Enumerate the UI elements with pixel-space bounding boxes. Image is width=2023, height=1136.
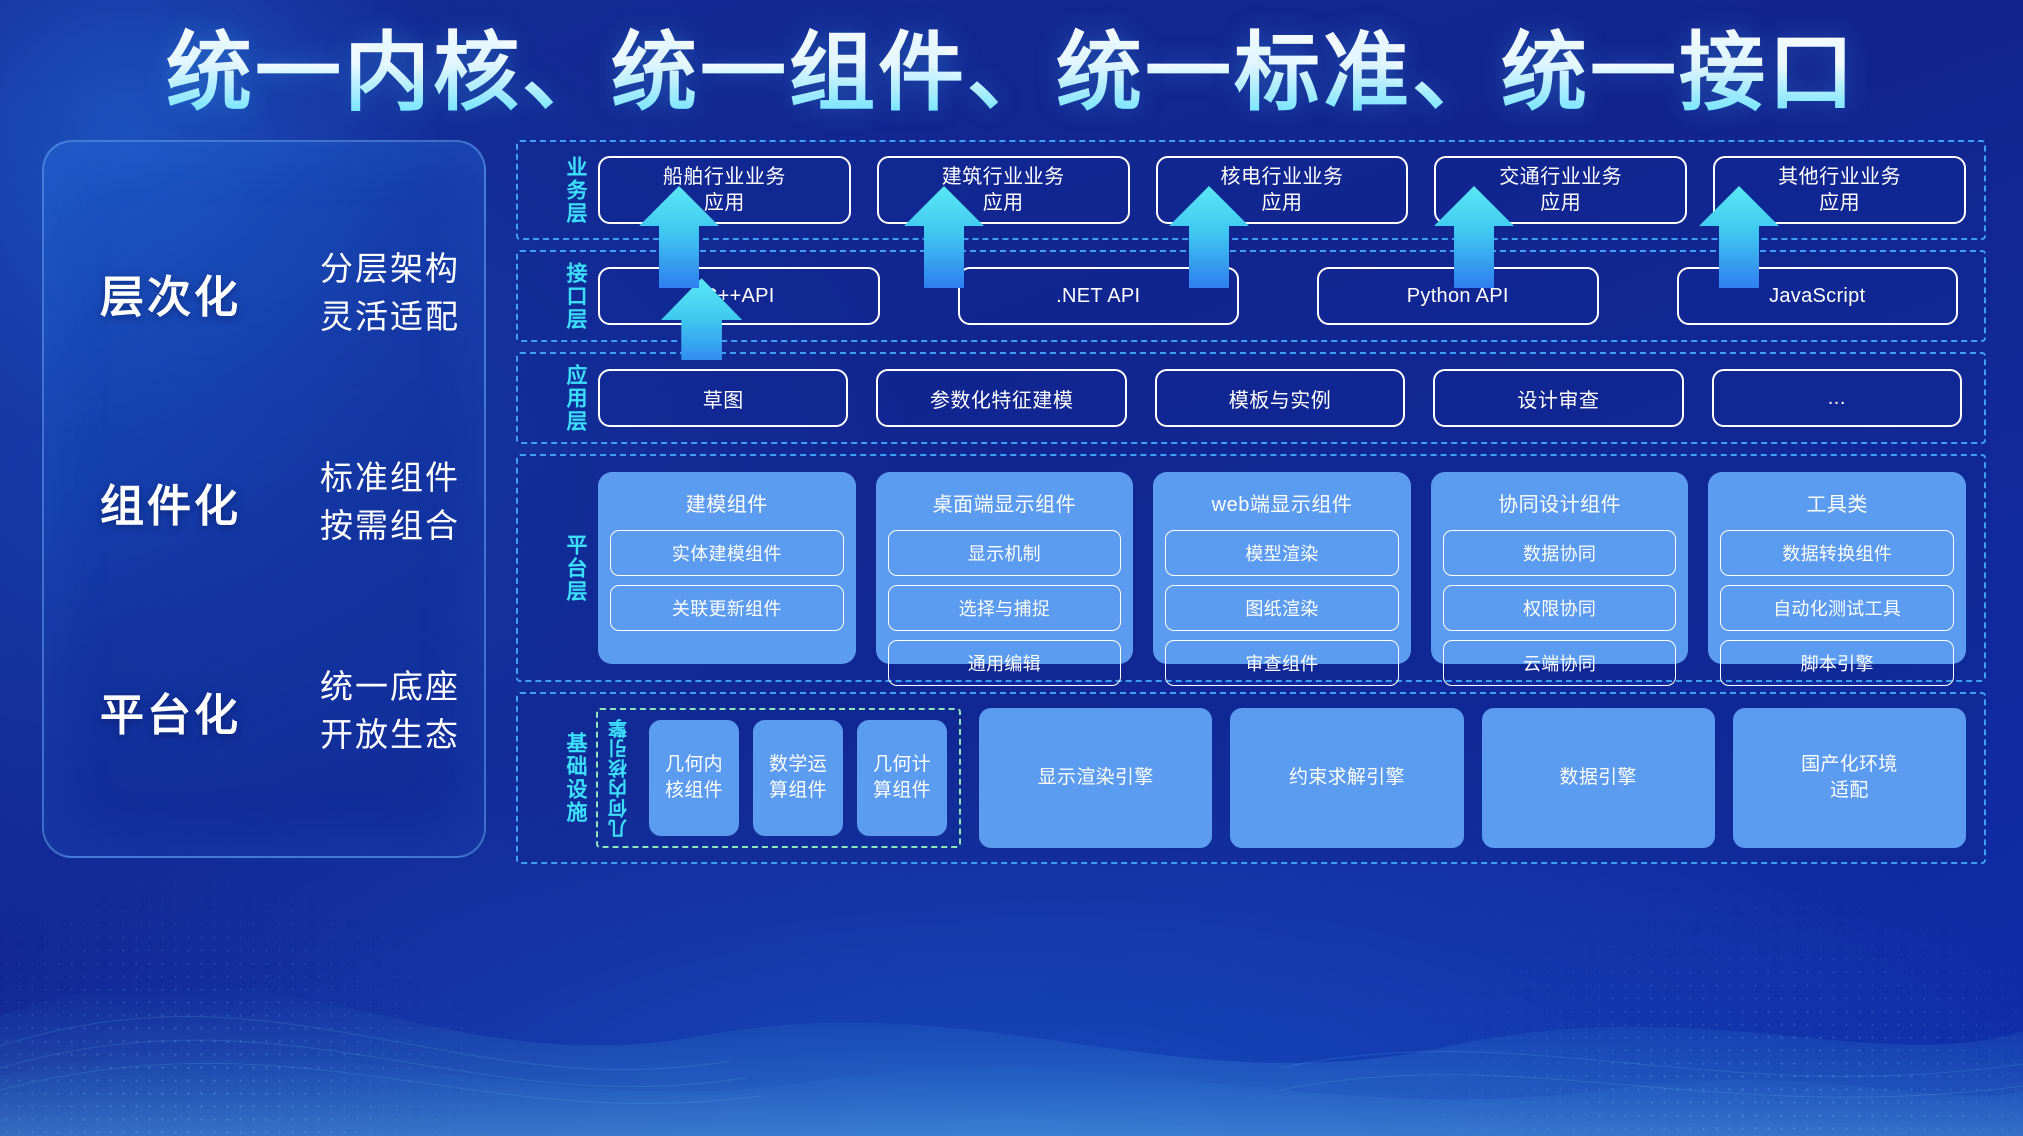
feature-panel: 层次化 分层架构 灵活适配 组件化 标准组件 按需组合 平台化 统一底座 开放生… — [42, 140, 486, 858]
platform-item-permission-collaboration[interactable]: 权限协同 — [1443, 585, 1677, 631]
feature-desc-line1: 统一底座 — [320, 663, 460, 711]
infra-box-line1: 几何计 — [873, 754, 931, 775]
architecture-stack: 业务层 船舶行业业务 应用 建筑行业业务 应用 核电行业业务 应用 — [516, 140, 1986, 864]
business-box-construction[interactable]: 建筑行业业务 应用 — [877, 156, 1130, 224]
business-box-line1: 交通行业业务 — [1499, 166, 1622, 188]
business-box-line2: 应用 — [983, 192, 1024, 214]
layer-label-platform: 平台层 — [532, 534, 588, 603]
feature-desc-componentized: 标准组件 按需组合 — [320, 454, 460, 550]
geometry-kernel-engine-label: 几何内核引擎 — [604, 720, 635, 836]
layer-label-application: 应用层 — [532, 364, 588, 433]
infra-box-line2: 核组件 — [665, 780, 723, 801]
layer-platform: 平台层 建模组件 实体建模组件 关联更新组件 桌面端显示组件 显示机制 选择与捕… — [516, 454, 1986, 682]
infra-box-line2: 算组件 — [873, 780, 931, 801]
platform-item-associative-update[interactable]: 关联更新组件 — [610, 585, 844, 631]
feature-key-componentized: 组件化 — [100, 470, 296, 534]
infra-box-line1: 国产化环境 — [1801, 754, 1898, 775]
layer-body-infrastructure: 几何内核引擎 几何内 核组件 数学运 算组件 几何计 算 — [594, 694, 1984, 862]
platform-card-desktop-display: 桌面端显示组件 显示机制 选择与捕捉 通用编辑 — [876, 472, 1134, 664]
platform-item-data-conversion[interactable]: 数据转换组件 — [1720, 530, 1954, 576]
infra-box-line1: 数学运 — [769, 754, 827, 775]
layer-body-application: 草图 参数化特征建模 模板与实例 设计审查 ... — [594, 355, 1984, 441]
infra-box-display-rendering-engine[interactable]: 显示渲染引擎 — [979, 708, 1212, 848]
platform-card-collaborative-design: 协同设计组件 数据协同 权限协同 云端协同 — [1431, 472, 1689, 664]
platform-item-script-engine[interactable]: 脚本引擎 — [1720, 640, 1954, 686]
interface-box-python-api[interactable]: Python API — [1317, 267, 1599, 325]
business-box-line1: 核电行业业务 — [1220, 166, 1343, 188]
business-box-line2: 应用 — [704, 192, 745, 214]
layer-body-interface: C++API .NET API Python API JavaScript — [594, 253, 1984, 339]
platform-item-model-rendering[interactable]: 模型渲染 — [1165, 530, 1399, 576]
application-box-design-review[interactable]: 设计审查 — [1433, 369, 1683, 427]
geometry-kernel-engine-group: 几何内核引擎 几何内 核组件 数学运 算组件 几何计 算 — [596, 708, 961, 848]
feature-desc-line1: 标准组件 — [320, 454, 460, 502]
infra-box-line1: 数据引擎 — [1560, 765, 1637, 791]
feature-desc-line2: 按需组合 — [320, 502, 460, 550]
application-box-parametric-feature-modeling[interactable]: 参数化特征建模 — [876, 369, 1126, 427]
platform-item-selection-and-snap[interactable]: 选择与捕捉 — [888, 585, 1122, 631]
feature-desc-platformized: 统一底座 开放生态 — [320, 663, 460, 759]
business-box-transportation[interactable]: 交通行业业务 应用 — [1434, 156, 1687, 224]
interface-box-net-api[interactable]: .NET API — [958, 267, 1240, 325]
infra-box-line1: 几何内 — [665, 754, 723, 775]
feature-desc-line1: 分层架构 — [320, 245, 460, 293]
feature-row-componentized: 组件化 标准组件 按需组合 — [44, 454, 484, 550]
feature-row-hierarchical: 层次化 分层架构 灵活适配 — [44, 245, 484, 341]
platform-item-automated-testing[interactable]: 自动化测试工具 — [1720, 585, 1954, 631]
application-box-more[interactable]: ... — [1712, 369, 1962, 427]
feature-row-platformized: 平台化 统一底座 开放生态 — [44, 663, 484, 759]
layer-infrastructure: 基础设施 几何内核引擎 几何内 核组件 数学运 算组件 — [516, 692, 1986, 864]
interface-box-cpp-api[interactable]: C++API — [598, 267, 880, 325]
infrastructure-engine-list: 显示渲染引擎 约束求解引擎 数据引擎 国产化环境 适配 — [979, 708, 1966, 848]
feature-desc-line2: 灵活适配 — [320, 293, 460, 341]
feature-key-hierarchical: 层次化 — [100, 261, 296, 325]
business-box-other[interactable]: 其他行业业务 应用 — [1713, 156, 1966, 224]
layer-interface: 接口层 C++API .NET API Python API JavaScrip… — [516, 250, 1986, 342]
platform-item-display-mechanism[interactable]: 显示机制 — [888, 530, 1122, 576]
platform-card-title: web端显示组件 — [1165, 482, 1399, 521]
business-box-line1: 其他行业业务 — [1778, 166, 1901, 188]
business-box-nuclear[interactable]: 核电行业业务 应用 — [1156, 156, 1409, 224]
platform-item-cloud-collaboration[interactable]: 云端协同 — [1443, 640, 1677, 686]
platform-item-review-component[interactable]: 审查组件 — [1165, 640, 1399, 686]
layer-application: 应用层 草图 参数化特征建模 模板与实例 设计审查 ... — [516, 352, 1986, 444]
feature-desc-hierarchical: 分层架构 灵活适配 — [320, 245, 460, 341]
platform-card-web-display: web端显示组件 模型渲染 图纸渲染 审查组件 — [1153, 472, 1411, 664]
infra-box-line2: 算组件 — [769, 780, 827, 801]
layer-label-infrastructure: 基础设施 — [532, 732, 588, 824]
infra-box-line2: 适配 — [1830, 780, 1869, 801]
platform-item-data-collaboration[interactable]: 数据协同 — [1443, 530, 1677, 576]
layer-body-platform: 建模组件 实体建模组件 关联更新组件 桌面端显示组件 显示机制 选择与捕捉 通用… — [594, 456, 1984, 680]
infra-box-localized-environment-adaptation[interactable]: 国产化环境 适配 — [1733, 708, 1966, 848]
infra-box-line1: 约束求解引擎 — [1289, 765, 1405, 791]
infra-box-data-engine[interactable]: 数据引擎 — [1482, 708, 1715, 848]
business-box-line1: 建筑行业业务 — [942, 166, 1065, 188]
business-box-line2: 应用 — [1819, 192, 1860, 214]
interface-box-javascript[interactable]: JavaScript — [1677, 267, 1959, 325]
business-box-line2: 应用 — [1261, 192, 1302, 214]
layer-label-business: 业务层 — [532, 156, 588, 225]
platform-item-drawing-rendering[interactable]: 图纸渲染 — [1165, 585, 1399, 631]
platform-card-tools: 工具类 数据转换组件 自动化测试工具 脚本引擎 — [1708, 472, 1966, 664]
platform-card-title: 建模组件 — [610, 482, 844, 521]
business-box-shipping[interactable]: 船舶行业业务 应用 — [598, 156, 851, 224]
feature-key-platformized: 平台化 — [100, 679, 296, 743]
infra-box-geometry-kernel-component[interactable]: 几何内 核组件 — [649, 720, 739, 836]
infra-box-geometry-computation-component[interactable]: 几何计 算组件 — [857, 720, 947, 836]
platform-item-solid-modeling[interactable]: 实体建模组件 — [610, 530, 844, 576]
platform-card-modeling: 建模组件 实体建模组件 关联更新组件 — [598, 472, 856, 664]
infra-box-line1: 显示渲染引擎 — [1038, 765, 1154, 791]
layer-label-interface: 接口层 — [532, 262, 588, 331]
infra-box-math-operation-component[interactable]: 数学运 算组件 — [753, 720, 843, 836]
page-title: 统一内核、统一组件、统一标准、统一接口 — [0, 24, 2023, 123]
platform-card-title: 工具类 — [1720, 482, 1954, 521]
platform-item-general-editing[interactable]: 通用编辑 — [888, 640, 1122, 686]
platform-card-title: 桌面端显示组件 — [888, 482, 1122, 521]
platform-card-title: 协同设计组件 — [1443, 482, 1677, 521]
layer-body-business: 船舶行业业务 应用 建筑行业业务 应用 核电行业业务 应用 交通行业业务 — [594, 142, 1984, 238]
business-box-line2: 应用 — [1540, 192, 1581, 214]
feature-desc-line2: 开放生态 — [320, 711, 460, 759]
business-box-line1: 船舶行业业务 — [663, 166, 786, 188]
application-box-sketch[interactable]: 草图 — [598, 369, 848, 427]
application-box-template-and-instance[interactable]: 模板与实例 — [1155, 369, 1405, 427]
infra-box-constraint-solver-engine[interactable]: 约束求解引擎 — [1230, 708, 1463, 848]
layer-business: 业务层 船舶行业业务 应用 建筑行业业务 应用 核电行业业务 应用 — [516, 140, 1986, 240]
